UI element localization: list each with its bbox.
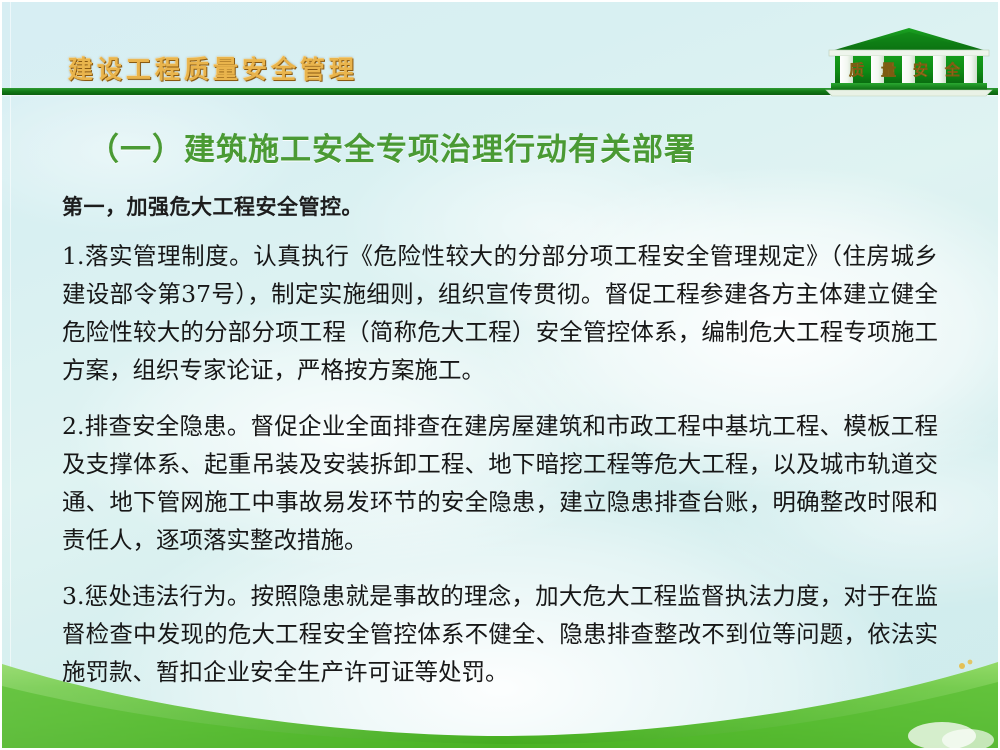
banner-title: 建设工程质量安全管理 <box>68 50 358 86</box>
logo-char-zhi: 质 <box>849 61 864 79</box>
logo-char-an: 安 <box>913 61 928 79</box>
quality-safety-temple-logo: 质 量 安 全 <box>824 27 994 99</box>
page-title: （一）建筑施工安全专项治理行动有关部署 <box>0 124 1000 169</box>
body-paragraph-2: 2.排查安全隐患。督促企业全面排查在建房屋建筑和市政工程中基坑工程、模板工程及支… <box>62 407 938 559</box>
body-paragraph-1: 1.落实管理制度。认真执行《危险性较大的分部分项工程安全管理规定》（住房城乡建设… <box>62 237 938 389</box>
logo-char-liang: 量 <box>881 61 896 79</box>
lead-statement: 第一，加强危大工程安全管控。 <box>0 191 1000 221</box>
logo-char-quan: 全 <box>944 61 961 79</box>
presentation-slide: 建设工程质量安全管理 <box>0 0 1000 750</box>
slide-content: （一）建筑施工安全专项治理行动有关部署 第一，加强危大工程安全管控。 1.落实管… <box>0 110 1000 691</box>
body-paragraph-3: 3.惩处违法行为。按照隐患就是事故的理念，加大危大工程监督执法力度，对于在监督检… <box>62 577 938 691</box>
